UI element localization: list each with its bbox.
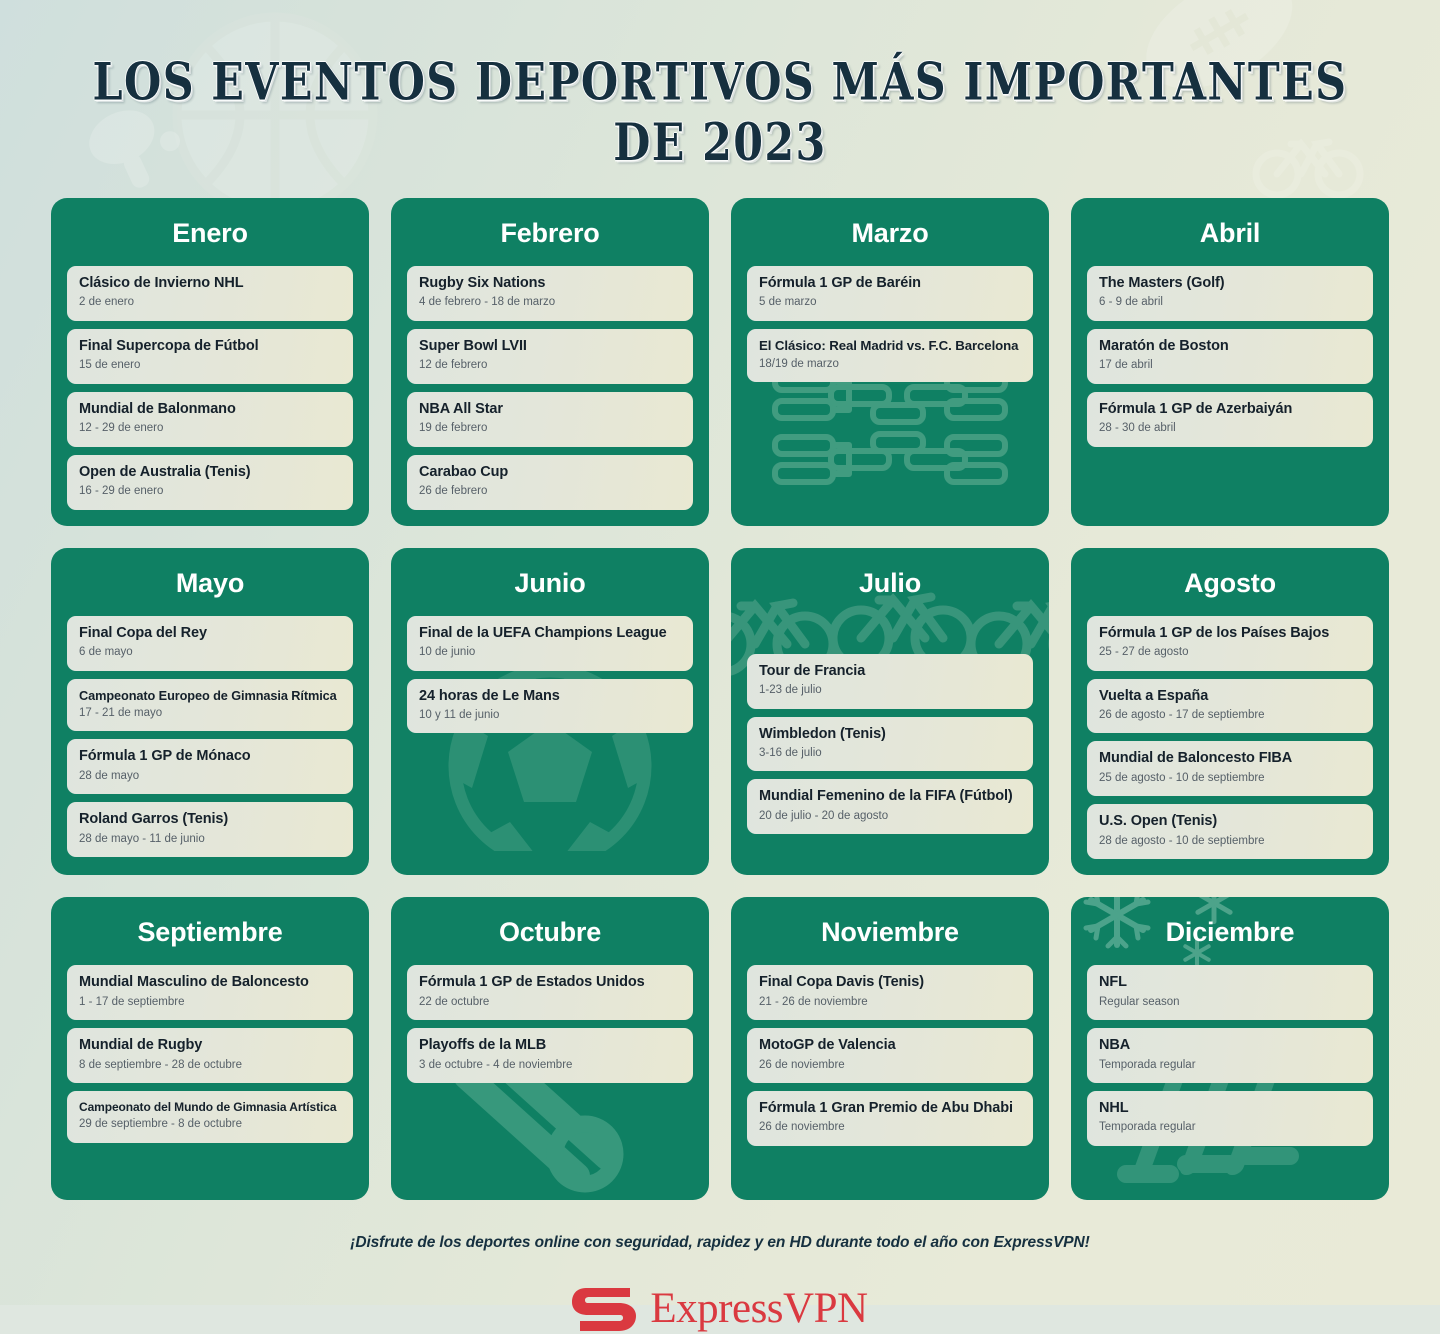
month-grid: EneroClásico de Invierno NHL2 de eneroFi…: [0, 198, 1440, 1200]
footer-tagline: ¡Disfrute de los deportes online con seg…: [0, 1234, 1440, 1252]
event-date: 28 de mayo - 11 de junio: [79, 832, 341, 848]
event-row[interactable]: NBA All Star19 de febrero: [407, 392, 693, 447]
event-row[interactable]: The Masters (Golf)6 - 9 de abril: [1087, 266, 1373, 321]
month-title: Junio: [407, 566, 693, 600]
event-date: 26 de agosto - 17 de septiembre: [1099, 708, 1361, 724]
event-row[interactable]: Fórmula 1 GP de Baréin5 de marzo: [747, 266, 1033, 321]
event-date: 28 de mayo: [79, 769, 341, 785]
month-title: Septiembre: [67, 915, 353, 949]
month-card-noviembre: NoviembreFinal Copa Davis (Tenis)21 - 26…: [731, 897, 1049, 1200]
month-title: Abril: [1087, 216, 1373, 250]
event-date: 15 de enero: [79, 358, 341, 374]
page-title: LOS EVENTOS DEPORTIVOS MÁS IMPORTANTES D…: [50, 52, 1389, 173]
expressvpn-logo-icon: [572, 1282, 636, 1334]
event-name: Rugby Six Nations: [419, 275, 681, 292]
event-row[interactable]: U.S. Open (Tenis)28 de agosto - 10 de se…: [1087, 804, 1373, 859]
event-row[interactable]: El Clásico: Real Madrid vs. F.C. Barcelo…: [747, 329, 1033, 382]
event-name: Wimbledon (Tenis): [759, 726, 1021, 743]
event-name: Fórmula 1 GP de los Países Bajos: [1099, 625, 1361, 642]
expressvpn-wordmark: ExpressVPN: [650, 1287, 867, 1330]
event-row[interactable]: Mundial Masculino de Baloncesto1 - 17 de…: [67, 965, 353, 1020]
title-container: LOS EVENTOS DEPORTIVOS MÁS IMPORTANTES D…: [0, 0, 1440, 166]
event-date: 26 de noviembre: [759, 1058, 1021, 1074]
event-date: 8 de septiembre - 28 de octubre: [79, 1058, 341, 1074]
event-name: Clásico de Invierno NHL: [79, 275, 341, 292]
month-card-mayo: MayoFinal Copa del Rey6 de mayoCampeonat…: [51, 548, 369, 876]
event-date: 17 - 21 de mayo: [79, 706, 341, 722]
month-card-abril: AbrilThe Masters (Golf)6 - 9 de abrilMar…: [1071, 198, 1389, 526]
event-date: 18/19 de marzo: [759, 357, 1021, 373]
event-list: The Masters (Golf)6 - 9 de abrilMaratón …: [1087, 266, 1373, 447]
month-title: Enero: [67, 216, 353, 250]
event-date: 16 - 29 de enero: [79, 484, 341, 500]
event-date: Temporada regular: [1099, 1120, 1361, 1136]
event-list: Clásico de Invierno NHL2 de eneroFinal S…: [67, 266, 353, 510]
event-name: 24 horas de Le Mans: [419, 688, 681, 705]
event-row[interactable]: Mundial de Baloncesto FIBA25 de agosto -…: [1087, 741, 1373, 796]
event-list: Mundial Masculino de Baloncesto1 - 17 de…: [67, 965, 353, 1143]
event-name: Roland Garros (Tenis): [79, 811, 341, 828]
event-name: Final Supercopa de Fútbol: [79, 338, 341, 355]
event-row[interactable]: Fórmula 1 GP de Mónaco28 de mayo: [67, 739, 353, 794]
event-name: Vuelta a España: [1099, 688, 1361, 705]
event-name: Campeonato del Mundo de Gimnasia Artísti…: [79, 1100, 341, 1114]
event-date: 28 de agosto - 10 de septiembre: [1099, 834, 1361, 850]
event-name: Final Copa del Rey: [79, 625, 341, 642]
event-row[interactable]: MotoGP de Valencia26 de noviembre: [747, 1028, 1033, 1083]
event-row[interactable]: Mundial de Balonmano12 - 29 de enero: [67, 392, 353, 447]
month-card-marzo: MarzoFórmula 1 GP de Baréin5 de marzoEl …: [731, 198, 1049, 526]
event-row[interactable]: Fórmula 1 GP de Estados Unidos22 de octu…: [407, 965, 693, 1020]
event-date: 25 - 27 de agosto: [1099, 645, 1361, 661]
event-date: 26 de noviembre: [759, 1120, 1021, 1136]
month-title: Julio: [747, 566, 1033, 600]
event-date: 5 de marzo: [759, 295, 1021, 311]
event-row[interactable]: NHLTemporada regular: [1087, 1091, 1373, 1146]
event-name: Fórmula 1 GP de Mónaco: [79, 748, 341, 765]
expressvpn-logo[interactable]: ExpressVPN: [0, 1282, 1440, 1334]
event-row[interactable]: Playoffs de la MLB3 de octubre - 4 de no…: [407, 1028, 693, 1083]
event-date: 3 de octubre - 4 de noviembre: [419, 1058, 681, 1074]
event-row[interactable]: Maratón de Boston17 de abril: [1087, 329, 1373, 384]
event-row[interactable]: Vuelta a España26 de agosto - 17 de sept…: [1087, 679, 1373, 734]
event-list: Fórmula 1 GP de Estados Unidos22 de octu…: [407, 965, 693, 1083]
event-list: Final Copa Davis (Tenis)21 - 26 de novie…: [747, 965, 1033, 1146]
event-name: MotoGP de Valencia: [759, 1037, 1021, 1054]
event-name: Carabao Cup: [419, 464, 681, 481]
month-card-enero: EneroClásico de Invierno NHL2 de eneroFi…: [51, 198, 369, 526]
event-list: Fórmula 1 GP de Baréin5 de marzoEl Clási…: [747, 266, 1033, 382]
event-date: 12 - 29 de enero: [79, 421, 341, 437]
month-card-diciembre: DiciembreNFLRegular seasonNBATemporada r…: [1071, 897, 1389, 1200]
event-list: NFLRegular seasonNBATemporada regularNHL…: [1087, 965, 1373, 1146]
event-row[interactable]: Campeonato del Mundo de Gimnasia Artísti…: [67, 1091, 353, 1143]
event-name: Mundial Femenino de la FIFA (Fútbol): [759, 788, 1021, 805]
event-date: 6 - 9 de abril: [1099, 295, 1361, 311]
event-name: Mundial Masculino de Baloncesto: [79, 974, 341, 991]
event-row[interactable]: Tour de Francia1-23 de julio: [747, 654, 1033, 709]
event-name: The Masters (Golf): [1099, 275, 1361, 292]
event-name: Final de la UEFA Champions League: [419, 625, 681, 642]
event-date: 6 de mayo: [79, 645, 341, 661]
event-name: Fórmula 1 GP de Baréin: [759, 275, 1021, 292]
event-row[interactable]: Wimbledon (Tenis)3-16 de julio: [747, 717, 1033, 772]
event-name: Tour de Francia: [759, 663, 1021, 680]
event-list: Final de la UEFA Champions League10 de j…: [407, 616, 693, 734]
event-row[interactable]: NBATemporada regular: [1087, 1028, 1373, 1083]
event-name: Mundial de Balonmano: [79, 401, 341, 418]
event-date: 3-16 de julio: [759, 746, 1021, 762]
event-row[interactable]: Super Bowl LVII12 de febrero: [407, 329, 693, 384]
event-name: NHL: [1099, 1100, 1361, 1117]
month-card-junio: JunioFinal de la UEFA Champions League10…: [391, 548, 709, 876]
event-date: 10 y 11 de junio: [419, 708, 681, 724]
month-title: Noviembre: [747, 915, 1033, 949]
event-row[interactable]: Campeonato Europeo de Gimnasia Rítmica17…: [67, 679, 353, 732]
month-title: Diciembre: [1087, 915, 1373, 949]
event-row[interactable]: NFLRegular season: [1087, 965, 1373, 1020]
event-date: 22 de octubre: [419, 995, 681, 1011]
event-row[interactable]: Open de Australia (Tenis)16 - 29 de ener…: [67, 455, 353, 510]
month-title: Octubre: [407, 915, 693, 949]
event-date: 29 de septiembre - 8 de octubre: [79, 1117, 341, 1133]
event-name: Fórmula 1 GP de Azerbaiyán: [1099, 401, 1361, 418]
event-date: 19 de febrero: [419, 421, 681, 437]
event-row[interactable]: Mundial Femenino de la FIFA (Fútbol)20 d…: [747, 779, 1033, 834]
event-list: Fórmula 1 GP de los Países Bajos25 - 27 …: [1087, 616, 1373, 860]
event-row[interactable]: Final Copa del Rey6 de mayo: [67, 616, 353, 671]
event-name: Open de Australia (Tenis): [79, 464, 341, 481]
event-date: 12 de febrero: [419, 358, 681, 374]
event-name: Super Bowl LVII: [419, 338, 681, 355]
event-row[interactable]: Clásico de Invierno NHL2 de enero: [67, 266, 353, 321]
event-date: 1-23 de julio: [759, 683, 1021, 699]
event-date: Temporada regular: [1099, 1058, 1361, 1074]
event-date: 17 de abril: [1099, 358, 1361, 374]
event-list: Rugby Six Nations4 de febrero - 18 de ma…: [407, 266, 693, 510]
event-row[interactable]: Roland Garros (Tenis)28 de mayo - 11 de …: [67, 802, 353, 857]
event-row[interactable]: Fórmula 1 GP de los Países Bajos25 - 27 …: [1087, 616, 1373, 671]
event-date: 21 - 26 de noviembre: [759, 995, 1021, 1011]
event-name: NBA All Star: [419, 401, 681, 418]
month-card-agosto: AgostoFórmula 1 GP de los Países Bajos25…: [1071, 548, 1389, 876]
month-title: Febrero: [407, 216, 693, 250]
event-row[interactable]: Carabao Cup26 de febrero: [407, 455, 693, 510]
event-row[interactable]: Fórmula 1 GP de Azerbaiyán28 - 30 de abr…: [1087, 392, 1373, 447]
footer: ¡Disfrute de los deportes online con seg…: [0, 1234, 1440, 1252]
event-date: 4 de febrero - 18 de marzo: [419, 295, 681, 311]
event-date: 2 de enero: [79, 295, 341, 311]
event-name: Mundial de Rugby: [79, 1037, 341, 1054]
event-date: Regular season: [1099, 995, 1361, 1011]
event-date: 25 de agosto - 10 de septiembre: [1099, 771, 1361, 787]
month-title: Agosto: [1087, 566, 1373, 600]
month-title: Mayo: [67, 566, 353, 600]
event-row[interactable]: Fórmula 1 Gran Premio de Abu Dhabi26 de …: [747, 1091, 1033, 1146]
event-date: 28 - 30 de abril: [1099, 421, 1361, 437]
event-row[interactable]: Final Supercopa de Fútbol15 de enero: [67, 329, 353, 384]
event-name: Fórmula 1 Gran Premio de Abu Dhabi: [759, 1100, 1021, 1117]
event-name: U.S. Open (Tenis): [1099, 813, 1361, 830]
event-row[interactable]: Rugby Six Nations4 de febrero - 18 de ma…: [407, 266, 693, 321]
event-list: Final Copa del Rey6 de mayoCampeonato Eu…: [67, 616, 353, 858]
event-name: NBA: [1099, 1037, 1361, 1054]
month-card-julio: JulioTour de Francia1-23 de julioWimbled…: [731, 548, 1049, 876]
month-card-octubre: OctubreFórmula 1 GP de Estados Unidos22 …: [391, 897, 709, 1200]
event-name: Final Copa Davis (Tenis): [759, 974, 1021, 991]
event-row[interactable]: Mundial de Rugby8 de septiembre - 28 de …: [67, 1028, 353, 1083]
month-title: Marzo: [747, 216, 1033, 250]
event-name: Mundial de Baloncesto FIBA: [1099, 750, 1361, 767]
event-row[interactable]: Final Copa Davis (Tenis)21 - 26 de novie…: [747, 965, 1033, 1020]
event-date: 20 de julio - 20 de agosto: [759, 809, 1021, 825]
event-name: Maratón de Boston: [1099, 338, 1361, 355]
month-card-febrero: FebreroRugby Six Nations4 de febrero - 1…: [391, 198, 709, 526]
event-name: NFL: [1099, 974, 1361, 991]
event-row[interactable]: Final de la UEFA Champions League10 de j…: [407, 616, 693, 671]
event-date: 10 de junio: [419, 645, 681, 661]
event-list: Tour de Francia1-23 de julioWimbledon (T…: [747, 654, 1033, 835]
event-name: Campeonato Europeo de Gimnasia Rítmica: [79, 688, 341, 703]
month-card-septiembre: SeptiembreMundial Masculino de Baloncest…: [51, 897, 369, 1200]
event-date: 26 de febrero: [419, 484, 681, 500]
event-name: Fórmula 1 GP de Estados Unidos: [419, 974, 681, 991]
event-row[interactable]: 24 horas de Le Mans10 y 11 de junio: [407, 679, 693, 734]
event-date: 1 - 17 de septiembre: [79, 995, 341, 1011]
event-name: El Clásico: Real Madrid vs. F.C. Barcelo…: [759, 338, 1021, 354]
event-name: Playoffs de la MLB: [419, 1037, 681, 1054]
